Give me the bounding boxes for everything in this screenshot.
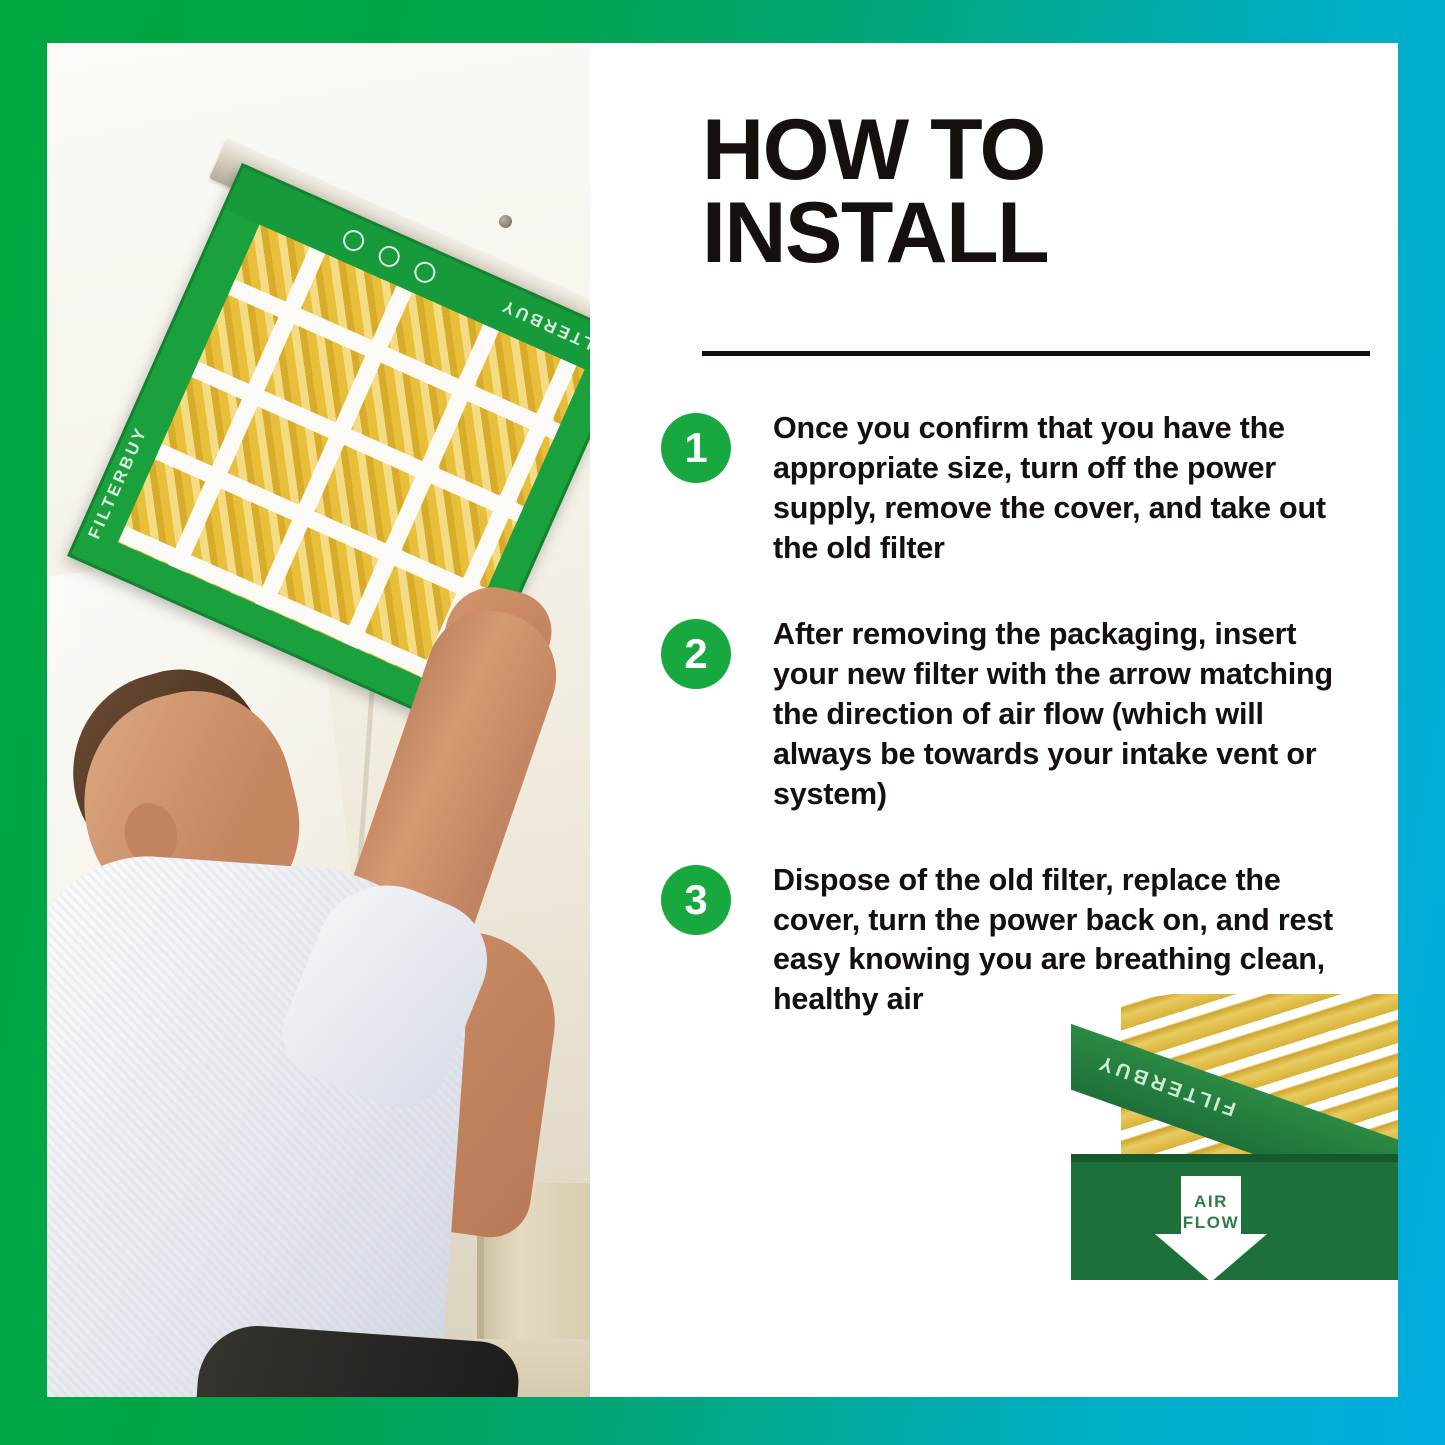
air-flow-arrow-graphic: AIR FLOW <box>1155 1176 1267 1282</box>
step-item-1: 1 Once you confirm that you have the app… <box>655 409 1398 569</box>
how-to-install-infographic: FILTERBUY FILTERBUY HOW TO INSTALL 1 <box>0 0 1445 1445</box>
step-number-badge-3: 3 <box>661 865 731 935</box>
certification-badge-icon <box>411 258 439 286</box>
air-flow-label: AIR FLOW <box>1155 1192 1267 1233</box>
title-divider <box>702 351 1370 356</box>
step-item-2: 2 After removing the packaging, insert y… <box>655 615 1398 815</box>
product-filter-image: FILTERBUY AIR FLOW <box>1071 994 1398 1303</box>
certification-badge-icon <box>375 243 403 271</box>
page-title: HOW TO INSTALL <box>702 109 1362 274</box>
air-flow-line-2: FLOW <box>1183 1213 1239 1232</box>
certification-badge-icon <box>340 227 368 255</box>
step-text-2: After removing the packaging, insert you… <box>773 615 1353 815</box>
product-filter-top: FILTERBUY <box>1071 994 1398 1176</box>
air-flow-line-1: AIR <box>1194 1192 1228 1211</box>
vent-screw-icon <box>499 215 512 228</box>
step-number-badge-2: 2 <box>661 619 731 689</box>
installation-photo: FILTERBUY FILTERBUY <box>47 43 590 1397</box>
step-number-badge-1: 1 <box>661 413 731 483</box>
steps-list: 1 Once you confirm that you have the app… <box>655 409 1398 1066</box>
step-text-1: Once you confirm that you have the appro… <box>773 409 1353 569</box>
